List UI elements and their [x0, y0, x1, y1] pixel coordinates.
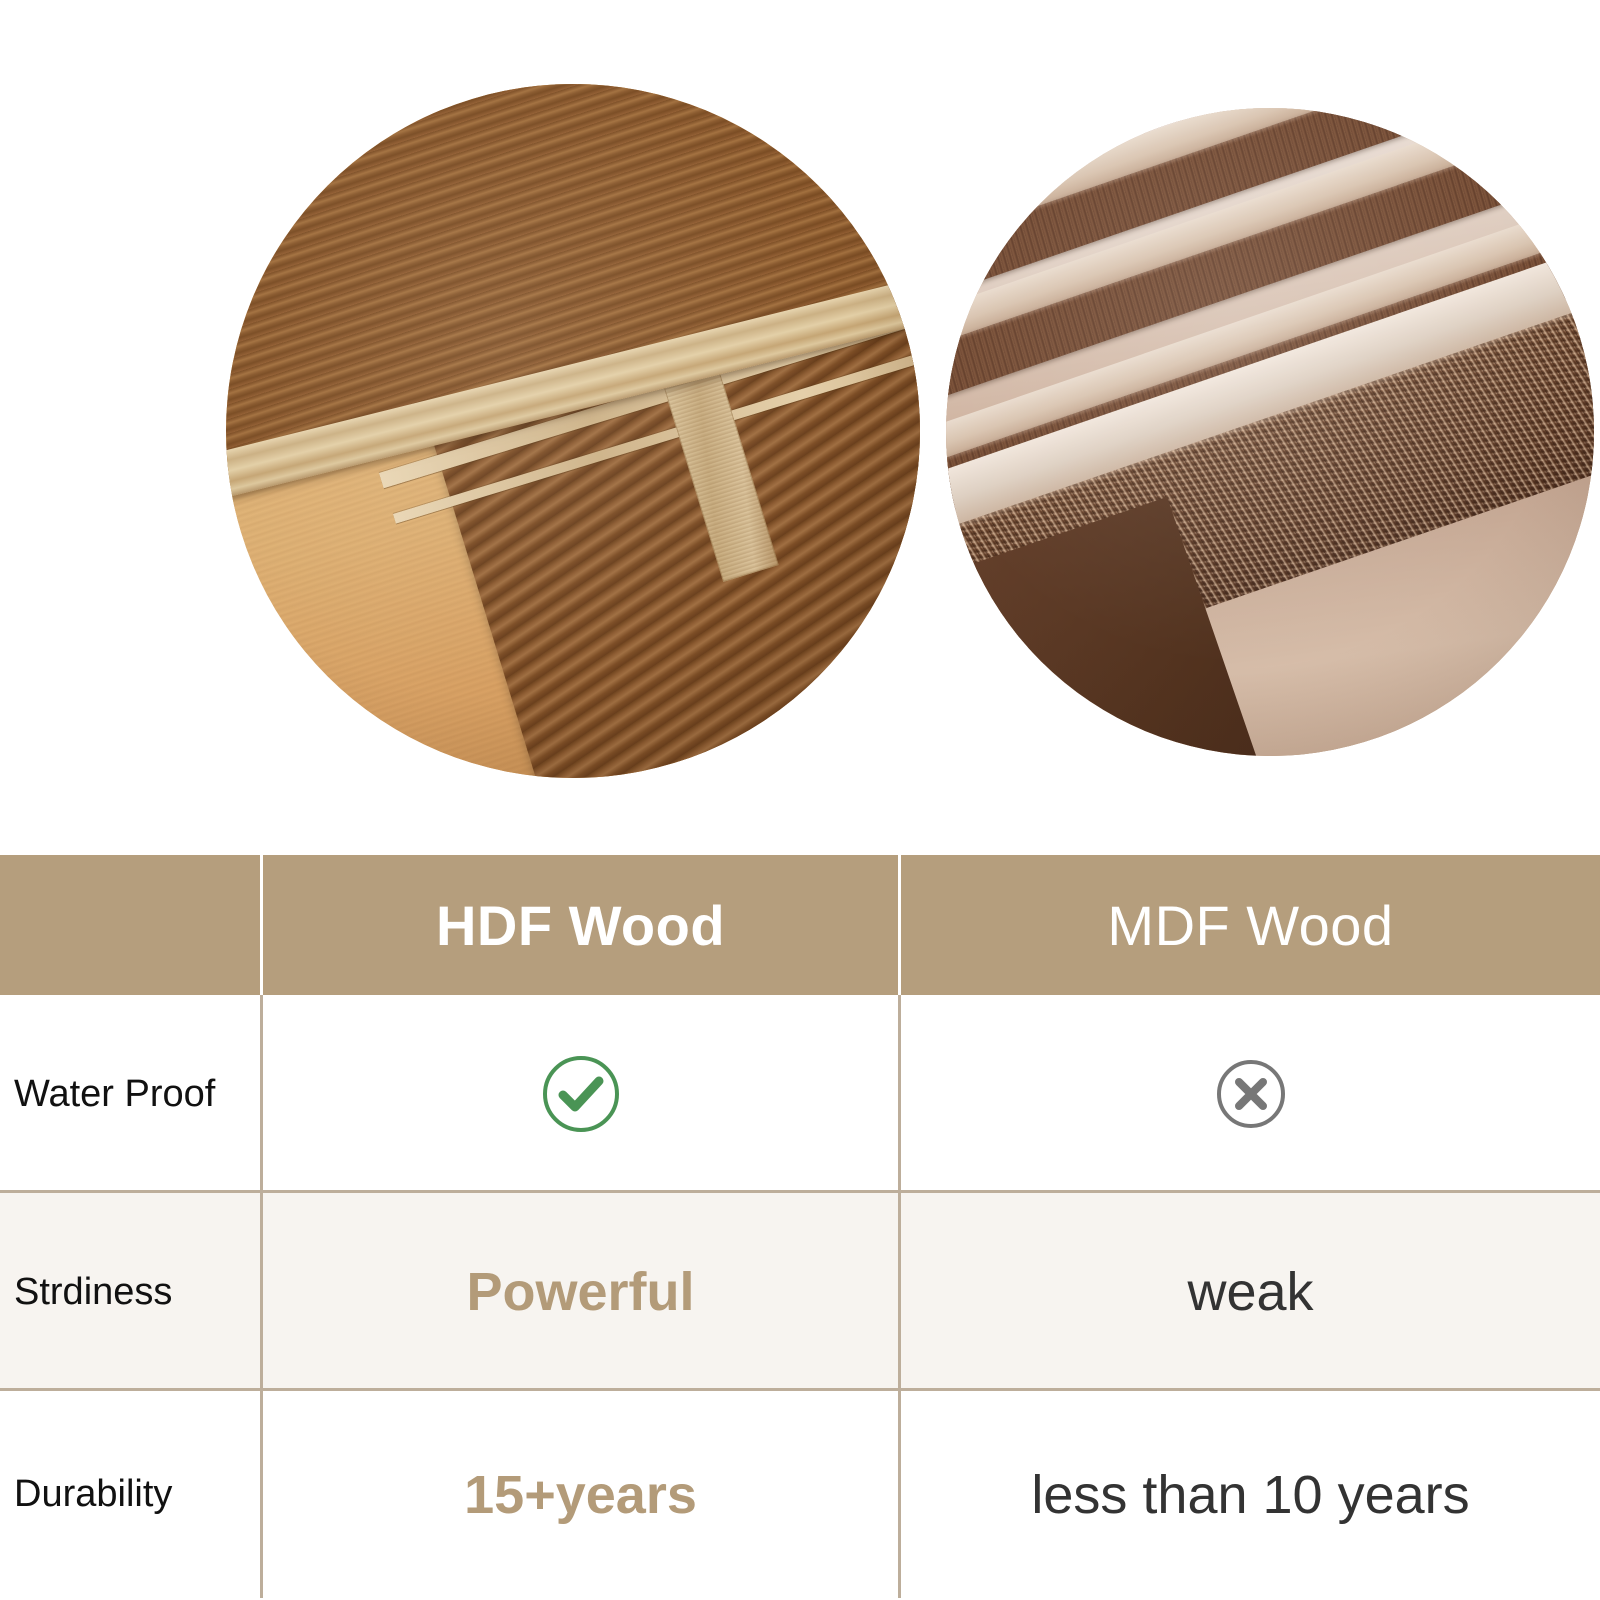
mdf-wood-photo [946, 108, 1594, 756]
hdf-wood-photo [226, 84, 920, 778]
mdf-value: weak [1187, 1261, 1313, 1323]
table-row: Durability 15+years less than 10 years [0, 1391, 1600, 1598]
row-feature-cell: Strdiness [0, 1193, 260, 1391]
header-hdf-label: HDF Wood [436, 893, 725, 958]
hdf-photo-vignette [226, 84, 920, 778]
row-hdf-cell: Powerful [260, 1193, 898, 1391]
row-hdf-cell [260, 995, 898, 1193]
header-mdf-label: MDF Wood [1107, 893, 1393, 958]
mdf-value: less than 10 years [1031, 1464, 1469, 1526]
cross-circle-icon [1211, 1054, 1291, 1134]
row-mdf-cell: less than 10 years [898, 1391, 1600, 1598]
wood-comparison-table: HDF Wood MDF Wood Water Proof [0, 855, 1600, 1598]
row-feature-cell: Water Proof [0, 995, 260, 1193]
hdf-value: 15+years [464, 1464, 697, 1526]
mdf-photo-vignette [946, 108, 1594, 756]
hdf-value: Powerful [466, 1261, 694, 1323]
hero-image-band [0, 0, 1600, 830]
header-cell-feature [0, 855, 260, 995]
row-hdf-cell: 15+years [260, 1391, 898, 1598]
feature-label: Durability [14, 1473, 172, 1516]
check-circle-icon [541, 1054, 621, 1134]
header-cell-mdf: MDF Wood [898, 855, 1600, 995]
header-cell-hdf: HDF Wood [260, 855, 898, 995]
feature-label: Water Proof [14, 1073, 215, 1116]
row-mdf-cell [898, 995, 1600, 1193]
table-row: Strdiness Powerful weak [0, 1193, 1600, 1391]
table-header-row: HDF Wood MDF Wood [0, 855, 1600, 995]
row-mdf-cell: weak [898, 1193, 1600, 1391]
feature-label: Strdiness [14, 1271, 172, 1314]
table-row: Water Proof [0, 995, 1600, 1193]
row-feature-cell: Durability [0, 1391, 260, 1598]
